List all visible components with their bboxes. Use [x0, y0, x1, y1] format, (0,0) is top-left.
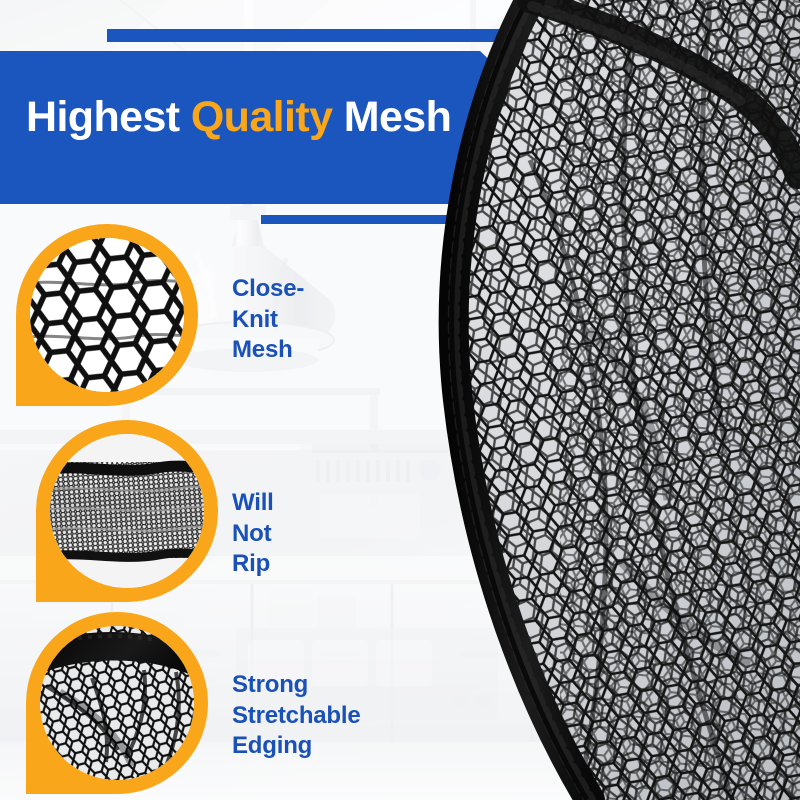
feature-label-strong-stretchable-edging: Strong Stretchable Edging: [232, 670, 361, 762]
top-accent-bar: [107, 29, 800, 42]
folded-mesh-fabric-photo: [50, 434, 204, 588]
title-part-highlight: Quality: [191, 93, 333, 141]
feature-label-will-not-rip: Will Not Rip: [232, 488, 274, 580]
title-part-3: Mesh: [332, 93, 451, 141]
close-knit-mesh-macro-photo: [30, 238, 184, 392]
feature-label-close-knit-mesh: Close-Knit Mesh: [232, 274, 304, 366]
title-part-1: Highest: [26, 93, 191, 141]
stretchable-edging-photo: [40, 626, 194, 780]
sub-accent-bar: [261, 215, 800, 224]
page-title: Highest Quality Mesh: [26, 96, 451, 139]
infographic-page: Highest Quality Mesh: [0, 0, 800, 800]
